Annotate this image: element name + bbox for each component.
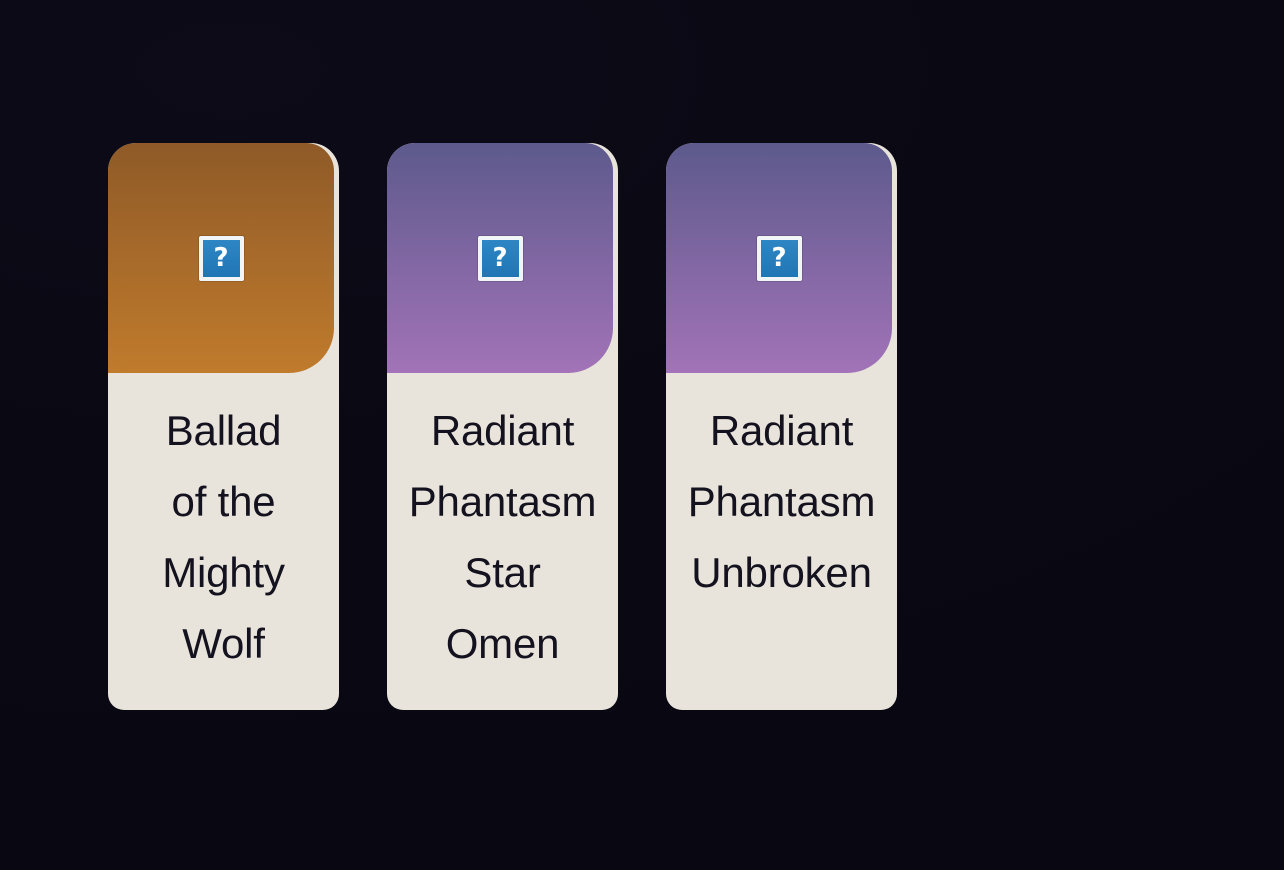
card[interactable]: ? Ballad of the Mighty Wolf bbox=[108, 143, 339, 710]
card-title-line: Radiant bbox=[666, 395, 897, 466]
broken-image-question-glyph: ? bbox=[492, 245, 507, 271]
broken-image-icon: ? bbox=[199, 236, 244, 281]
broken-image-question-glyph: ? bbox=[213, 245, 228, 271]
card-grid: ? Ballad of the Mighty Wolf ? bbox=[108, 143, 897, 710]
card[interactable]: ? Radiant Phantasm Star Omen bbox=[387, 143, 618, 710]
card-image[interactable]: ? bbox=[108, 143, 334, 373]
broken-image-icon: ? bbox=[478, 236, 523, 281]
card-image[interactable]: ? bbox=[387, 143, 613, 373]
card-title-line: Star bbox=[387, 537, 618, 608]
card-title-line: of the bbox=[108, 466, 339, 537]
broken-image-icon: ? bbox=[757, 236, 802, 281]
page-root: ? Ballad of the Mighty Wolf ? bbox=[0, 0, 1284, 870]
card-title-line: Mighty bbox=[108, 537, 339, 608]
card-title: Radiant Phantasm Unbroken bbox=[666, 395, 897, 608]
broken-image-question-glyph: ? bbox=[771, 245, 786, 271]
card-body: Ballad of the Mighty Wolf bbox=[108, 373, 339, 710]
card-title-line: Omen bbox=[387, 608, 618, 679]
card-image[interactable]: ? bbox=[666, 143, 892, 373]
card-title-line: Wolf bbox=[108, 608, 339, 679]
card-title-line: Ballad bbox=[108, 395, 339, 466]
card-title: Ballad of the Mighty Wolf bbox=[108, 395, 339, 679]
card-title-line: Unbroken bbox=[666, 537, 897, 608]
card-title-line: Phantasm bbox=[387, 466, 618, 537]
card-title-line: Phantasm bbox=[666, 466, 897, 537]
card-title: Radiant Phantasm Star Omen bbox=[387, 395, 618, 679]
card-body: Radiant Phantasm Star Omen bbox=[387, 373, 618, 710]
card-title-line: Radiant bbox=[387, 395, 618, 466]
card-body: Radiant Phantasm Unbroken bbox=[666, 373, 897, 710]
card[interactable]: ? Radiant Phantasm Unbroken bbox=[666, 143, 897, 710]
